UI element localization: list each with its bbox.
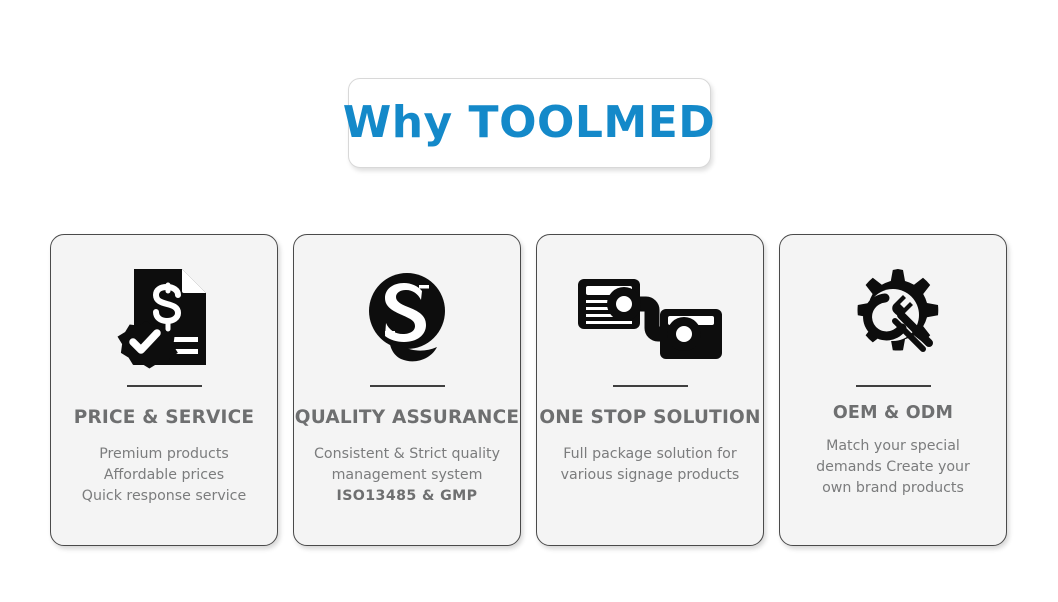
card-description: Consistent & Strict quality management s… — [302, 444, 512, 507]
card-description-line: Consistent & Strict quality — [314, 444, 500, 465]
card-description-line: Premium products — [82, 444, 246, 465]
card-title: ONE STOP SOLUTION — [539, 409, 760, 428]
workflow-nodes-icon — [574, 257, 726, 377]
feature-card-one-stop-solution[interactable]: ONE STOP SOLUTION Full package solution … — [536, 234, 764, 546]
card-description-line: Full package solution for — [561, 444, 740, 465]
card-divider — [370, 385, 445, 387]
card-title: OEM & ODM — [833, 405, 953, 423]
card-description: Match your special demands Create your o… — [804, 436, 982, 499]
gear-wrench-icon — [843, 257, 943, 377]
card-title: QUALITY ASSURANCE — [295, 409, 519, 428]
sq-monogram-icon — [359, 257, 455, 377]
card-divider — [613, 385, 688, 387]
invoice-dollar-verified-icon — [116, 257, 212, 377]
page-title-container: Why TOOLMED — [0, 78, 1058, 168]
page-title-box: Why TOOLMED — [348, 78, 711, 168]
card-description-line: Quick response service — [82, 486, 246, 507]
card-description-line: own brand products — [816, 478, 970, 499]
feature-card-oem-odm[interactable]: OEM & ODM Match your special demands Cre… — [779, 234, 1007, 546]
card-description: Premium products Affordable prices Quick… — [70, 444, 258, 507]
card-title: PRICE & SERVICE — [74, 409, 255, 428]
page-title: Why TOOLMED — [343, 101, 716, 145]
card-description-line: management system — [314, 465, 500, 486]
card-description-line: various signage products — [561, 465, 740, 486]
card-description-line: Match your special — [816, 436, 970, 457]
why-toolmed-section: Why TOOLMED PRICE & SERVICE — [0, 0, 1058, 602]
card-description-line: demands Create your — [816, 457, 970, 478]
feature-card-list: PRICE & SERVICE Premium products Afforda… — [50, 234, 1007, 546]
feature-card-price-service[interactable]: PRICE & SERVICE Premium products Afforda… — [50, 234, 278, 546]
card-divider — [856, 385, 931, 387]
card-description-line: Affordable prices — [82, 465, 246, 486]
card-description: Full package solution for various signag… — [549, 444, 752, 486]
card-divider — [127, 385, 202, 387]
card-description-line-certification: ISO13485 & GMP — [314, 486, 500, 507]
feature-card-quality-assurance[interactable]: QUALITY ASSURANCE Consistent & Strict qu… — [293, 234, 521, 546]
